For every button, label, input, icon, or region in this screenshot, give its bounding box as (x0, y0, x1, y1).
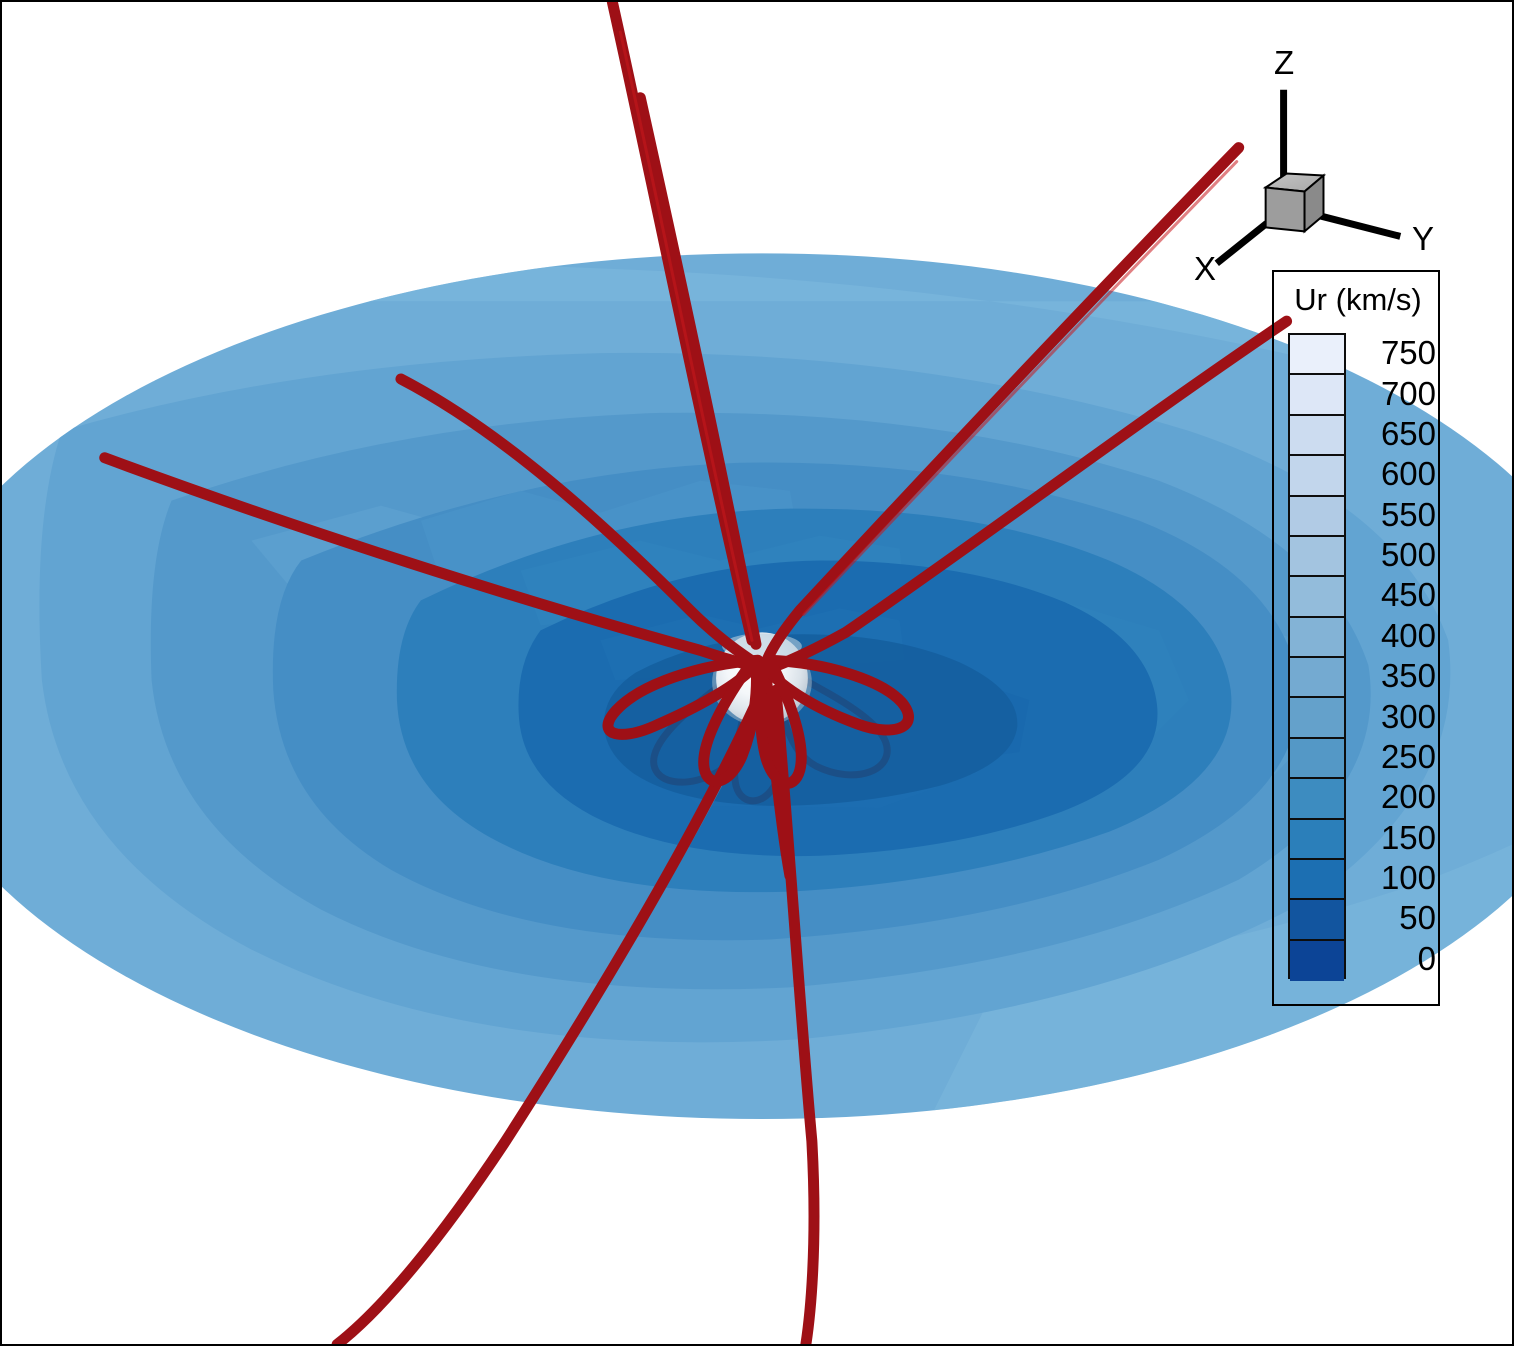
legend-swatch (1290, 658, 1344, 698)
legend-tick: 500 (1381, 538, 1436, 571)
legend-tick: 150 (1381, 821, 1436, 854)
legend-swatch (1290, 900, 1344, 940)
legend-tick: 350 (1381, 659, 1436, 692)
legend-tick: 0 (1418, 942, 1436, 975)
orientation-axes-widget[interactable] (1217, 90, 1401, 264)
legend-tick: 450 (1381, 578, 1436, 611)
legend-swatch (1290, 860, 1344, 900)
legend-swatch (1290, 779, 1344, 819)
legend-swatch (1290, 820, 1344, 860)
color-legend[interactable]: Ur (km/s) 750700650600550500450400350300… (1272, 270, 1440, 1006)
legend-tick: 50 (1399, 901, 1436, 934)
legend-tick: 400 (1381, 619, 1436, 652)
legend-tick: 250 (1381, 740, 1436, 773)
legend-swatch (1290, 698, 1344, 738)
legend-title: Ur (km/s) (1274, 282, 1442, 318)
legend-swatch (1290, 618, 1344, 658)
legend-tick: 600 (1381, 457, 1436, 490)
visualization-canvas: Z Y X Ur (km/s) 750700650600550500450400… (0, 0, 1514, 1346)
legend-tick: 650 (1381, 417, 1436, 450)
x-axis-line (1217, 223, 1267, 263)
legend-swatch (1290, 456, 1344, 496)
y-axis-line (1311, 213, 1401, 236)
legend-swatch (1290, 941, 1344, 981)
legend-tick: 700 (1381, 377, 1436, 410)
origin-cube-icon (1266, 174, 1324, 232)
legend-swatch (1290, 577, 1344, 617)
legend-swatch (1290, 375, 1344, 415)
legend-tick-labels: 7507006506005505004504003503002502001501… (1352, 333, 1438, 979)
legend-tick: 100 (1381, 861, 1436, 894)
legend-tick: 550 (1381, 498, 1436, 531)
legend-tick: 300 (1381, 700, 1436, 733)
legend-tick: 200 (1381, 780, 1436, 813)
legend-tick: 750 (1381, 336, 1436, 369)
z-axis-label: Z (1274, 44, 1294, 82)
legend-swatch (1290, 497, 1344, 537)
legend-swatch (1290, 335, 1344, 375)
legend-color-swatches[interactable] (1288, 333, 1346, 979)
x-axis-label: X (1194, 250, 1216, 288)
legend-swatch (1290, 739, 1344, 779)
legend-swatch (1290, 537, 1344, 577)
y-axis-label: Y (1412, 220, 1434, 258)
legend-swatch (1290, 416, 1344, 456)
